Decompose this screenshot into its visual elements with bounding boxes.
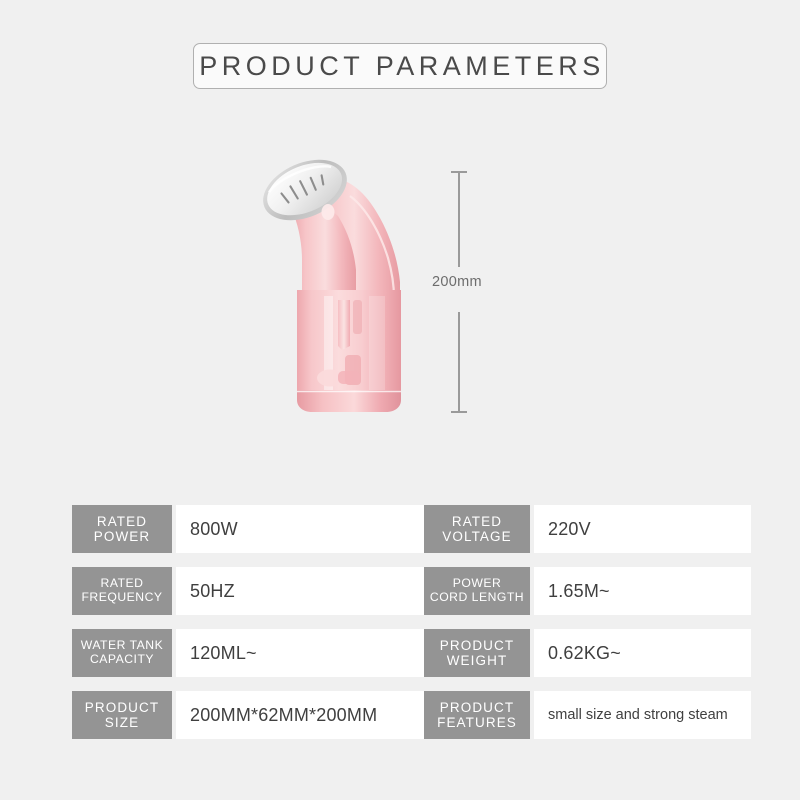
spec-label-rated-power: RATED POWER — [72, 505, 172, 553]
spec-value-power-cord-length: 1.65M~ — [534, 567, 751, 615]
indicator-light — [322, 204, 335, 220]
label-line-2: FREQUENCY — [81, 591, 162, 605]
spec-label-product-size: PRODUCT SIZE — [72, 691, 172, 739]
dimension-line-upper — [458, 172, 460, 267]
dimension-label: 200mm — [432, 274, 482, 290]
label-line-2: CORD LENGTH — [430, 591, 524, 605]
spec-value-product-weight: 0.62KG~ — [534, 629, 751, 677]
label-line-2: SIZE — [105, 715, 139, 730]
internal-part — [353, 300, 362, 334]
product-image — [250, 150, 425, 435]
label-line-1: WATER TANK — [81, 639, 163, 653]
internal-tube — [338, 300, 350, 350]
table-row: PRODUCT SIZE 200MM*62MM*200MM PRODUCT FE… — [64, 691, 737, 739]
spec-value-water-tank-capacity: 120ML~ — [176, 629, 430, 677]
label-line-1: RATED — [101, 577, 144, 591]
label-line-1: RATED — [452, 514, 502, 529]
spec-table: RATED POWER 800W RATED VOLTAGE 220V RATE… — [64, 505, 737, 738]
label-line-2: CAPACITY — [90, 653, 154, 667]
spec-label-product-features: PRODUCT FEATURES — [424, 691, 530, 739]
dimension-annotation: 200mm — [420, 160, 540, 420]
label-line-2: FEATURES — [437, 715, 517, 730]
tank-highlight-2 — [369, 296, 385, 398]
page-title: PRODUCT PARAMETERS — [195, 51, 605, 82]
label-line-1: RATED — [97, 514, 147, 529]
label-line-1: PRODUCT — [85, 700, 159, 715]
label-line-2: POWER — [94, 529, 151, 544]
table-row: WATER TANK CAPACITY 120ML~ PRODUCT WEIGH… — [64, 629, 737, 677]
dimension-tick-bottom — [451, 411, 467, 413]
table-row: RATED FREQUENCY 50HZ POWER CORD LENGTH 1… — [64, 567, 737, 615]
label-line-2: VOLTAGE — [442, 529, 511, 544]
page-title-box: PRODUCT PARAMETERS — [193, 43, 607, 89]
label-line-1: PRODUCT — [440, 700, 514, 715]
spec-label-product-weight: PRODUCT WEIGHT — [424, 629, 530, 677]
spec-value-rated-frequency: 50HZ — [176, 567, 430, 615]
label-line-2: WEIGHT — [447, 653, 508, 668]
dimension-line-lower — [458, 312, 460, 412]
tank-base — [297, 390, 401, 412]
spec-value-rated-voltage: 220V — [534, 505, 751, 553]
label-line-1: POWER — [453, 577, 502, 591]
spec-label-water-tank-capacity: WATER TANK CAPACITY — [72, 629, 172, 677]
spec-label-rated-voltage: RATED VOLTAGE — [424, 505, 530, 553]
spec-value-product-size: 200MM*62MM*200MM — [176, 691, 430, 739]
spec-label-rated-frequency: RATED FREQUENCY — [72, 567, 172, 615]
label-line-1: PRODUCT — [440, 638, 514, 653]
spec-value-rated-power: 800W — [176, 505, 430, 553]
spec-value-product-features: small size and strong steam — [534, 691, 751, 739]
internal-nozzle-body — [338, 371, 360, 384]
spec-label-power-cord-length: POWER CORD LENGTH — [424, 567, 530, 615]
table-row: RATED POWER 800W RATED VOLTAGE 220V — [64, 505, 737, 553]
